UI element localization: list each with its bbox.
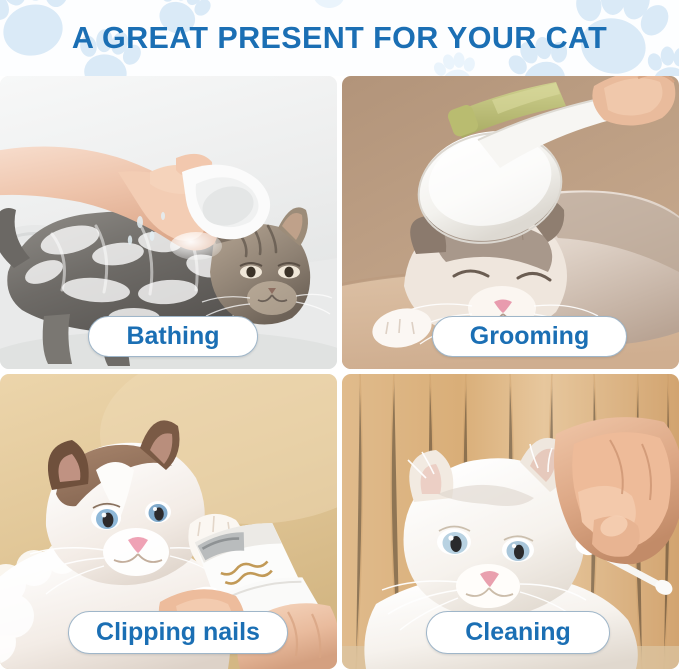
header-banner: A GREAT PRESENT FOR YOUR CAT (0, 0, 679, 76)
feature-grid: Bathing (0, 76, 679, 669)
panel-cleaning[interactable]: Cleaning (342, 374, 679, 669)
infographic-page: A GREAT PRESENT FOR YOUR CAT (0, 0, 679, 669)
badge-grooming[interactable]: Grooming (432, 316, 627, 357)
panel-bathing[interactable]: Bathing (0, 76, 337, 369)
badge-cleaning[interactable]: Cleaning (426, 611, 610, 654)
panel-clipping-nails[interactable]: Clipping nails (0, 374, 337, 669)
panel-grooming[interactable]: Grooming (342, 76, 679, 369)
page-title: A GREAT PRESENT FOR YOUR CAT (0, 0, 679, 76)
badge-clipping-nails[interactable]: Clipping nails (68, 611, 288, 654)
badge-bathing[interactable]: Bathing (88, 316, 258, 357)
